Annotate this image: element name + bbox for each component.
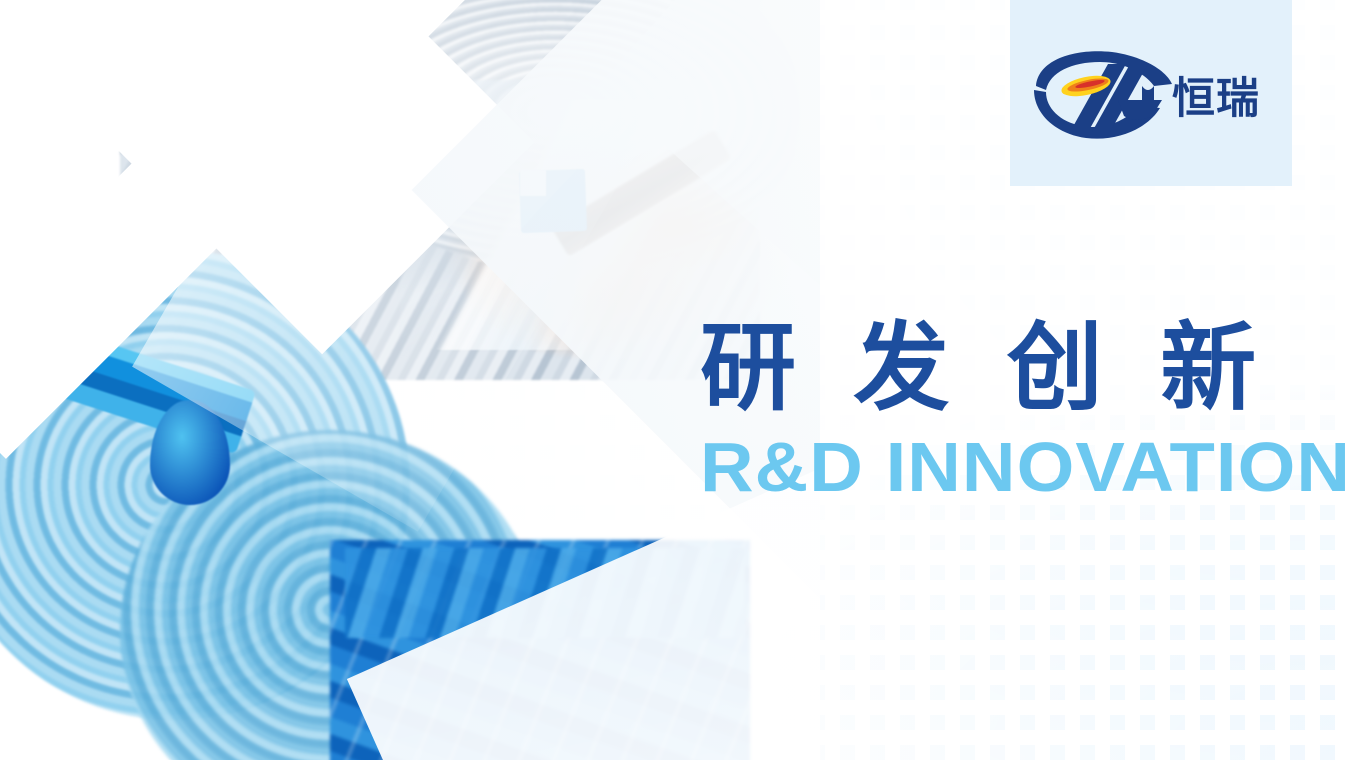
photo-collage: [0, 0, 820, 760]
page-title-en: R&D INNOVATION: [700, 432, 1336, 502]
logo-inner: 恒瑞: [1026, 38, 1276, 148]
headline-block: 研 发 创 新 R&D INNOVATION: [700, 320, 1300, 502]
page-title-cn: 研 发 创 新: [700, 320, 1300, 418]
rd-innovation-banner: 恒瑞 研 发 创 新 R&D INNOVATION: [0, 0, 1350, 760]
hengrui-logo-mark-icon: [1026, 46, 1176, 142]
logo-company-name: 恒瑞: [1172, 78, 1260, 121]
hengrui-logo-panel[interactable]: 恒瑞: [1010, 0, 1292, 186]
